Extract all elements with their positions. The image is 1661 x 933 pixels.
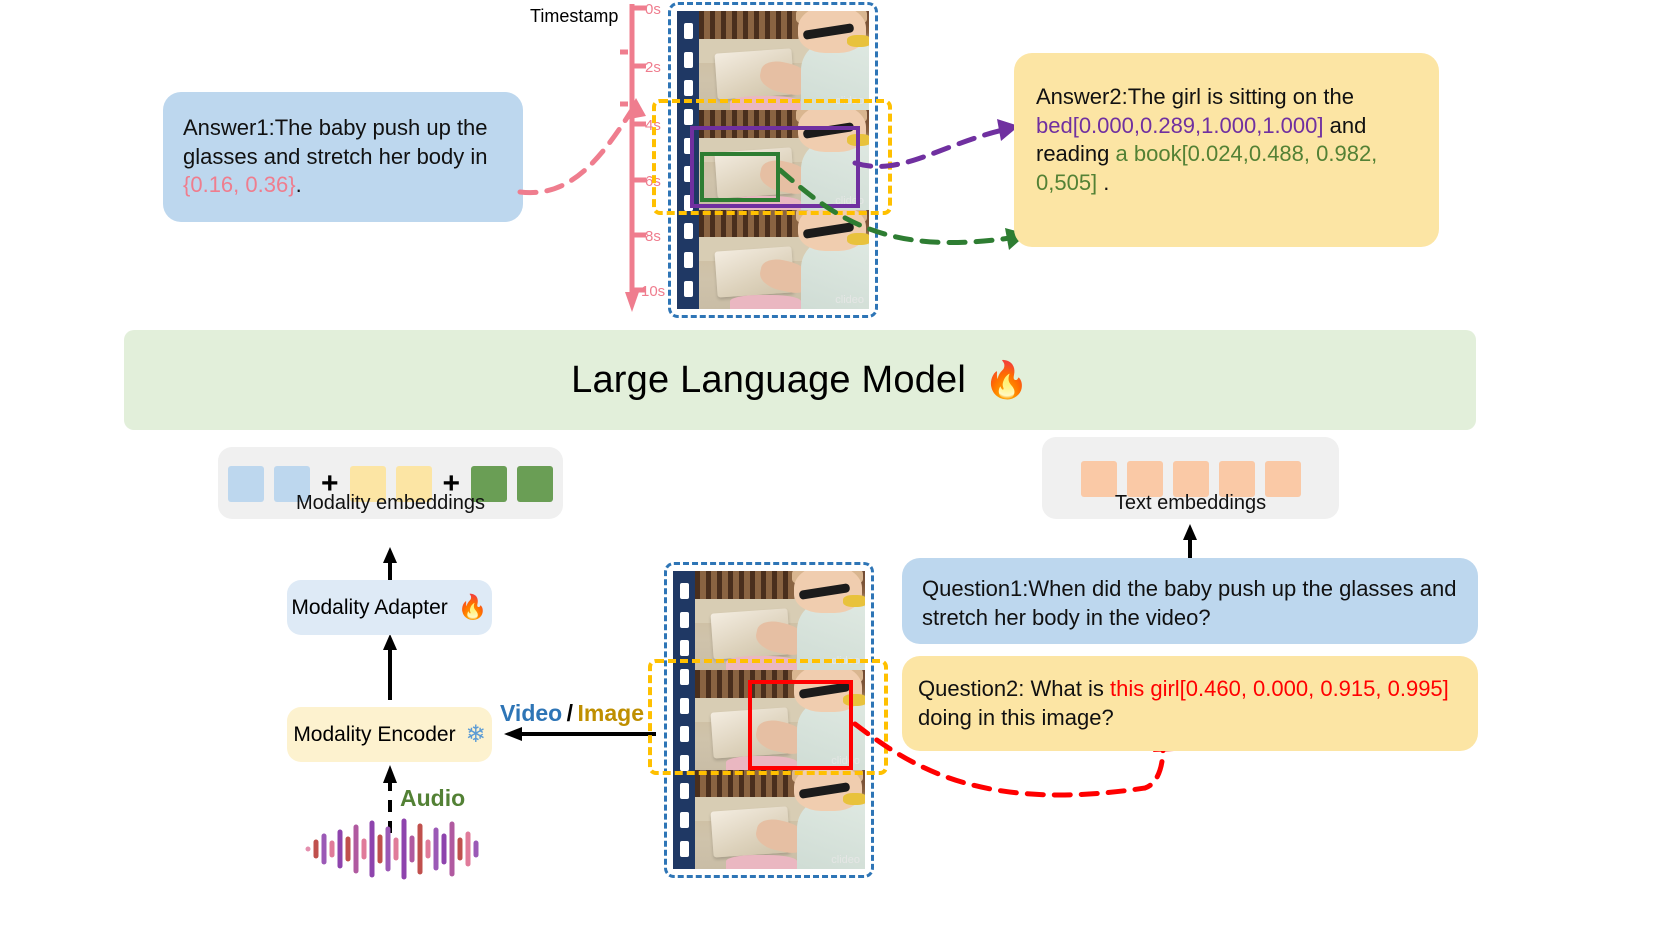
answer2-bed-coords: bed[0.000,0.289,1.000,1.000] [1036,113,1323,138]
modality-encoder-label: Modality Encoder [293,723,455,747]
answer1-arrow [500,80,660,210]
watermark: clideo [835,294,864,306]
audio-waveform [302,818,482,880]
book-bounding-box [700,152,780,202]
girl-bounding-box [748,680,853,770]
watermark: clideo [831,854,860,866]
tick-label-0s: 0s [645,1,661,18]
image-label: Image [578,700,644,726]
modality-adapter-label: Modality Adapter [291,596,447,620]
audio-label: Audio [400,785,465,812]
answer2-reading: reading [1036,141,1116,166]
answer1-bubble: Answer1:The baby push up the glasses and… [163,92,523,222]
book-arrow [775,160,1045,270]
answer1-timespan: {0.16, 0.36} [183,172,296,197]
question2-suffix: doing in this image? [918,705,1114,730]
question2-girl-coords: this girl[0.460, 0.000, 0.915, 0.995] [1110,676,1449,701]
slash-separator: / [567,700,573,726]
tick-label-2s: 2s [645,59,661,76]
timestamp-label: Timestamp [530,6,618,27]
answer2-period: . [1097,170,1109,195]
video-label: Video [500,700,562,726]
answer2-and: and [1323,113,1366,138]
encoder-to-adapter-arrow [375,632,405,702]
llm-title: Large Language Model [571,359,966,402]
text-embeddings-caption: Text embeddings [1042,492,1339,515]
video-frame-1: clideo [699,11,869,110]
question2-bubble: Question2: What is this girl[0.460, 0.00… [902,656,1478,751]
llm-band: Large Language Model 🔥 [124,330,1476,430]
answer2-bubble: Answer2:The girl is sitting on the bed[0… [1014,53,1439,247]
answer2-intro: Answer2:The girl is sitting on the [1036,84,1354,109]
fire-icon: 🔥 [458,596,488,620]
fire-icon: 🔥 [984,362,1029,398]
modality-embeddings-caption: Modality embeddings [218,492,563,515]
question2-prefix: Question2: What is [918,676,1110,701]
answer1-period: . [296,172,302,197]
tick-label-8s: 8s [645,228,661,245]
video-frame-1: clideo [695,571,865,670]
answer2-book-coords-cont: 0,505] [1036,170,1097,195]
modality-adapter-box[interactable]: Modality Adapter 🔥 [287,580,492,635]
answer2-book-coords: a book[0.024,0.488, 0.982, [1116,141,1378,166]
video-frame-3: clideo [695,770,865,869]
video-image-label: Video / Image [500,700,644,727]
snowflake-icon: ❄ [466,723,486,747]
modality-encoder-box[interactable]: Modality Encoder ❄ [287,707,492,762]
answer1-text: Answer1:The baby push up the glasses and… [183,115,488,169]
question1-bubble: Question1:When did the baby push up the … [902,558,1478,644]
tick-label-10s: 10s [641,283,665,300]
